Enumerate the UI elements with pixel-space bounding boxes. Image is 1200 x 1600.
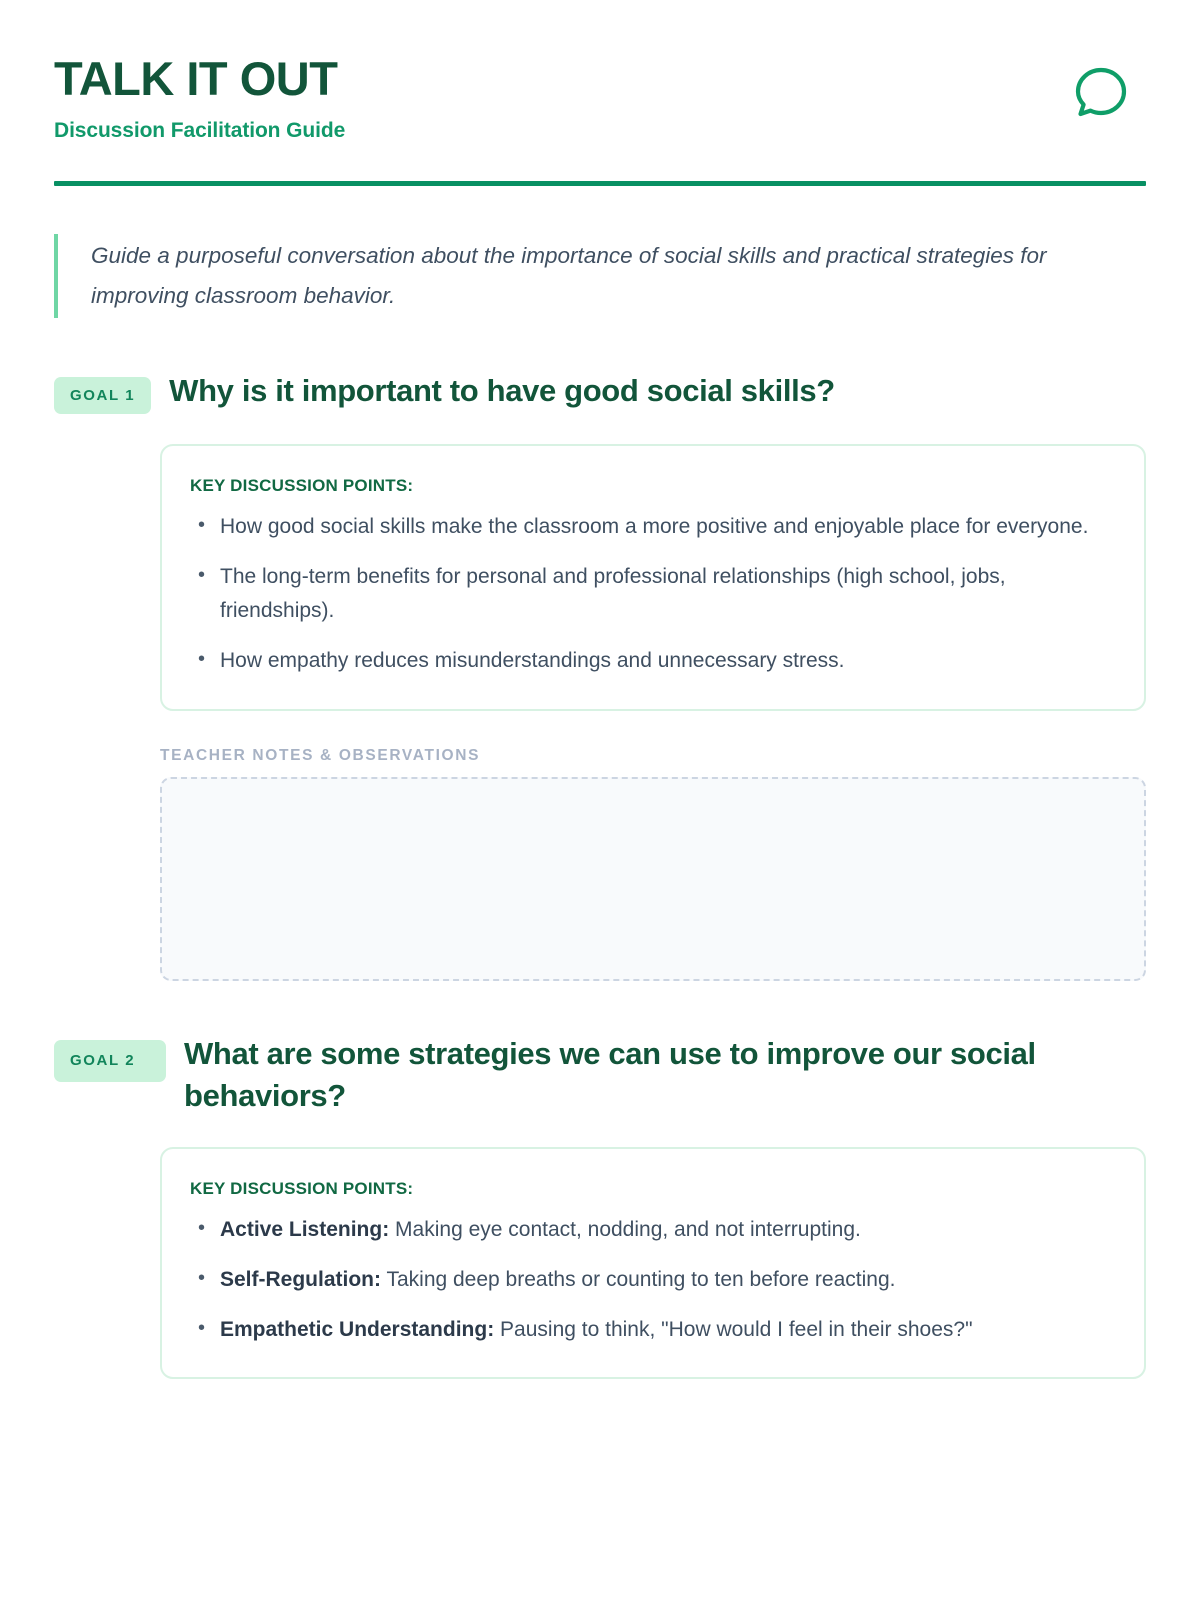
point-text: Taking deep breaths or counting to ten b… xyxy=(386,1268,895,1291)
point-lead: Self-Regulation: xyxy=(220,1268,381,1291)
intro-text: Guide a purposeful conversation about th… xyxy=(91,236,1146,316)
list-item: Active Listening: Making eye contact, no… xyxy=(220,1213,1110,1247)
goal-section-2: GOAL 2 What are some strategies we can u… xyxy=(54,1033,1146,1379)
key-points-label-1: KEY DISCUSSION POINTS: xyxy=(190,476,1110,496)
goal-header-2: GOAL 2 What are some strategies we can u… xyxy=(54,1033,1146,1117)
teacher-notes-label-1: TEACHER NOTES & OBSERVATIONS xyxy=(160,747,1146,765)
list-item: Empathetic Understanding: Pausing to thi… xyxy=(220,1313,1110,1347)
intro-callout: Guide a purposeful conversation about th… xyxy=(54,234,1146,318)
point-text: Pausing to think, "How would I feel in t… xyxy=(500,1318,973,1341)
point-text: How good social skills make the classroo… xyxy=(220,515,1088,538)
document-page: TALK IT OUT Discussion Facilitation Guid… xyxy=(0,0,1200,1439)
goal-body-2: KEY DISCUSSION POINTS: Active Listening:… xyxy=(160,1147,1146,1379)
goal-title-1: Why is it important to have good social … xyxy=(169,370,835,412)
page-title: TALK IT OUT xyxy=(54,54,345,103)
point-lead: Active Listening: xyxy=(220,1218,389,1241)
goal-badge-1: GOAL 1 xyxy=(54,377,151,414)
teacher-notes-input-1[interactable] xyxy=(160,777,1146,981)
list-item: Self-Regulation: Taking deep breaths or … xyxy=(220,1263,1110,1297)
list-item: How empathy reduces misunderstandings an… xyxy=(220,644,1110,678)
list-item: The long-term benefits for personal and … xyxy=(220,560,1110,628)
key-points-card-1: KEY DISCUSSION POINTS: How good social s… xyxy=(160,444,1146,710)
document-header: TALK IT OUT Discussion Facilitation Guid… xyxy=(54,52,1146,143)
header-text-block: TALK IT OUT Discussion Facilitation Guid… xyxy=(54,52,345,143)
point-lead: Empathetic Understanding: xyxy=(220,1318,494,1341)
goal-title-2: What are some strategies we can use to i… xyxy=(184,1033,1114,1117)
point-text: How empathy reduces misunderstandings an… xyxy=(220,649,844,672)
goal-badge-2: GOAL 2 xyxy=(54,1040,166,1083)
speech-bubble-icon xyxy=(1070,62,1132,129)
key-points-label-2: KEY DISCUSSION POINTS: xyxy=(190,1179,1110,1199)
key-points-list-1: How good social skills make the classroo… xyxy=(190,510,1110,678)
page-subtitle: Discussion Facilitation Guide xyxy=(54,119,345,143)
point-text: Making eye contact, nodding, and not int… xyxy=(395,1218,861,1241)
goal-body-1: KEY DISCUSSION POINTS: How good social s… xyxy=(160,444,1146,980)
goal-section-1: GOAL 1 Why is it important to have good … xyxy=(54,370,1146,980)
list-item: How good social skills make the classroo… xyxy=(220,510,1110,544)
point-text: The long-term benefits for personal and … xyxy=(220,565,1006,622)
page-bottom-spacer xyxy=(54,1379,1146,1439)
header-divider xyxy=(54,181,1146,186)
key-points-list-2: Active Listening: Making eye contact, no… xyxy=(190,1213,1110,1347)
goal-header-1: GOAL 1 Why is it important to have good … xyxy=(54,370,1146,414)
key-points-card-2: KEY DISCUSSION POINTS: Active Listening:… xyxy=(160,1147,1146,1379)
